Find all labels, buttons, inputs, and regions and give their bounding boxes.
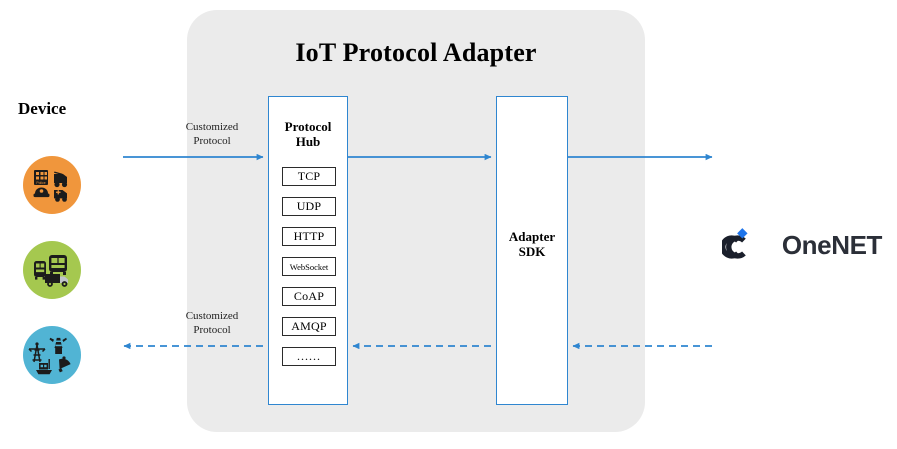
outbound-flow-label: Customized Protocol: [152, 309, 272, 337]
protocol-chip-http[interactable]: HTTP: [282, 227, 336, 246]
device-icon-transport[interactable]: [23, 241, 81, 299]
svg-text:Police: Police: [36, 181, 45, 185]
onenet-mark-icon: [722, 228, 776, 262]
device-group-label: Device: [18, 99, 108, 119]
telemetry-icon-group: [23, 326, 81, 384]
adapter-sdk-title-line1: Adapter: [497, 229, 567, 244]
onenet-logo: OneNET: [722, 224, 882, 266]
protocol-chip-websocket[interactable]: WebSocket: [282, 257, 336, 276]
protocol-chip-more[interactable]: ......: [282, 347, 336, 366]
adapter-sdk-box[interactable]: Adapter SDK: [496, 96, 568, 405]
onenet-logo-text: OneNET: [782, 230, 882, 261]
protocol-chip-tcp[interactable]: TCP: [282, 167, 336, 186]
protocol-hub-box[interactable]: Protocol Hub TCP UDP HTTP WebSocket CoAP…: [268, 96, 348, 405]
protocol-chip-list: TCP UDP HTTP WebSocket CoAP AMQP ......: [276, 167, 342, 377]
device-icon-telemetry[interactable]: [23, 326, 81, 384]
protocol-hub-title-line2: Hub: [269, 134, 347, 149]
inbound-flow-label: Customized Protocol: [152, 120, 272, 148]
adapter-panel: [187, 10, 645, 432]
protocol-chip-coap[interactable]: CoAP: [282, 287, 336, 306]
adapter-sdk-title: Adapter SDK: [497, 229, 567, 259]
diagram-canvas: IoT Protocol Adapter Device Police: [0, 0, 897, 449]
adapter-sdk-title-line2: SDK: [497, 244, 567, 259]
protocol-hub-title: Protocol Hub: [269, 119, 347, 149]
device-icon-public-safety[interactable]: Police: [23, 156, 81, 214]
protocol-hub-title-line1: Protocol: [269, 119, 347, 134]
public-safety-icon-group: Police: [23, 156, 81, 214]
transport-icon-group: [23, 241, 81, 299]
protocol-chip-amqp[interactable]: AMQP: [282, 317, 336, 336]
page-title: IoT Protocol Adapter: [187, 38, 645, 68]
protocol-chip-udp[interactable]: UDP: [282, 197, 336, 216]
